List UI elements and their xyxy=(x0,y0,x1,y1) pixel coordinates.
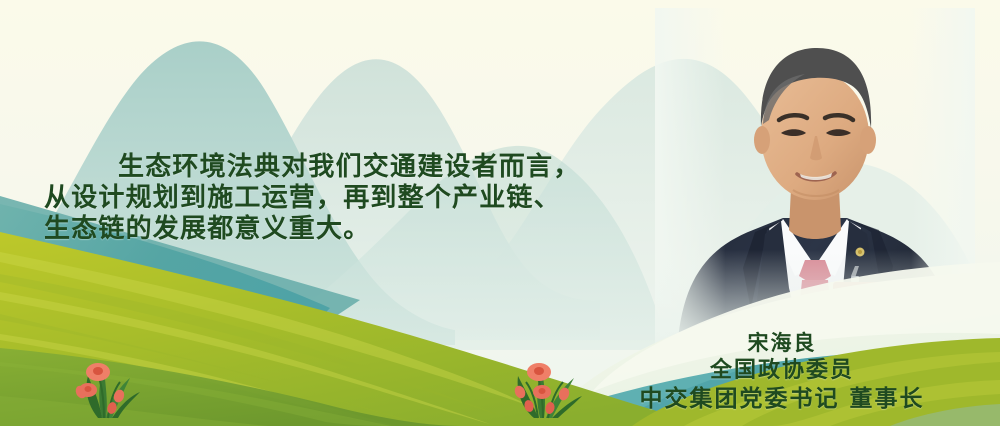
speaker-name-block: 宋海良 全国政协委员 中交集团党委书记 董事长 xyxy=(602,330,962,414)
quote-line-3: 生态链的发展都意义重大。 xyxy=(44,214,684,245)
quote-text: 生态环境法典对我们交通建设者而言， 从设计规划到施工运营，再到整个产业链、 生态… xyxy=(44,152,684,245)
flower-cluster-icon xyxy=(513,363,582,418)
quote-line-2: 从设计规划到施工运营，再到整个产业链、 xyxy=(44,183,684,214)
speaker-title-1: 全国政协委员 xyxy=(602,356,962,384)
speaker-title-2: 中交集团党委书记 董事长 xyxy=(602,384,962,414)
quote-line-1: 生态环境法典对我们交通建设者而言， xyxy=(44,152,684,183)
speaker-name: 宋海良 xyxy=(602,330,962,356)
quote-banner: 生态环境法典对我们交通建设者而言， 从设计规划到施工运营，再到整个产业链、 生态… xyxy=(0,0,1000,426)
